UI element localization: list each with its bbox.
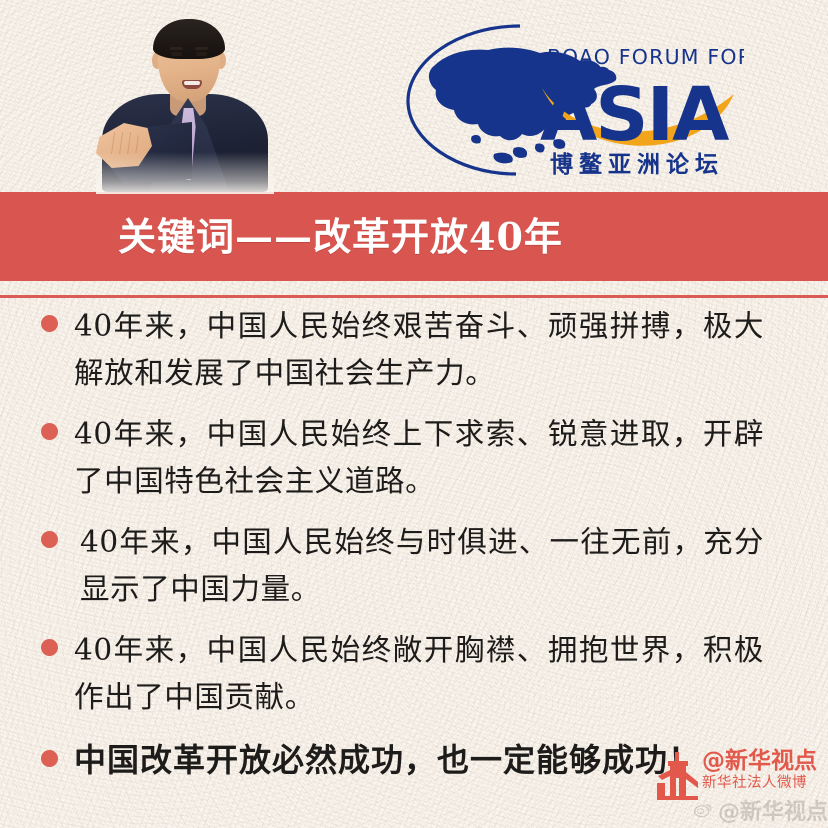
list-item-text: 40年来，中国人民始终敞开胸襟、拥抱世界，积极作出了中国贡献。 bbox=[74, 627, 764, 721]
watermark-subtitle: 新华社法人微博 bbox=[702, 774, 822, 792]
banner-divider-rule bbox=[0, 295, 828, 298]
watermark-text-block: @新华视点 新华社法人微博 bbox=[702, 748, 822, 792]
list-item: 40年来，中国人民始终上下求索、锐意进取，开辟了中国特色社会主义道路。 bbox=[0, 411, 828, 505]
portrait-eye-left bbox=[171, 52, 182, 56]
portrait-brow-right bbox=[195, 47, 208, 50]
list-item: 40年来，中国人民始终与时俱进、一往无前，充分显示了中国力量。 bbox=[0, 519, 828, 613]
weibo-eye-icon bbox=[694, 797, 712, 823]
bullet-dot-icon bbox=[41, 639, 58, 656]
list-item-text: 40年来，中国人民始终艰苦奋斗、顽强拼搏，极大解放和发展了中国社会生产力。 bbox=[74, 303, 764, 397]
portrait-eye-right bbox=[196, 52, 207, 56]
boao-forum-logo: BOAO FORUM FOR ASIA 博鳌亚洲论坛 bbox=[404, 16, 744, 182]
list-item: 40年来，中国人民始终敞开胸襟、拥抱世界，积极作出了中国贡献。 bbox=[0, 627, 828, 721]
logo-line1-text: BOAO FORUM FOR bbox=[547, 45, 744, 69]
title-banner: 关键词——改革开放40年 bbox=[0, 192, 828, 281]
poster-canvas: BOAO FORUM FOR ASIA 博鳌亚洲论坛 关键词——改革开放40年 … bbox=[0, 0, 828, 828]
weibo-watermark: @新华视点 bbox=[694, 795, 828, 825]
page-title: 关键词——改革开放40年 bbox=[118, 218, 563, 256]
portrait-mouth bbox=[182, 80, 202, 89]
watermark-handle: @新华视点 bbox=[702, 748, 822, 774]
list-item-text: 40年来，中国人民始终与时俱进、一往无前，充分显示了中国力量。 bbox=[74, 519, 764, 613]
portrait-hair bbox=[153, 19, 225, 59]
logo-chinese-text: 博鳌亚洲论坛 bbox=[550, 151, 724, 178]
header-region: BOAO FORUM FOR ASIA 博鳌亚洲论坛 bbox=[0, 0, 828, 192]
list-item: 40年来，中国人民始终艰苦奋斗、顽强拼搏，极大解放和发展了中国社会生产力。 bbox=[0, 303, 828, 397]
weibo-watermark-label: @新华视点 bbox=[718, 794, 828, 826]
logo-asia-text: ASIA bbox=[540, 72, 729, 158]
xinhua-logo-icon bbox=[656, 752, 700, 800]
bullet-dot-icon bbox=[41, 750, 58, 767]
portrait-bottom-fade bbox=[96, 152, 274, 194]
bullet-list: 40年来，中国人民始终艰苦奋斗、顽强拼搏，极大解放和发展了中国社会生产力。 40… bbox=[0, 303, 828, 733]
speaker-portrait-image bbox=[96, 2, 274, 192]
bullet-dot-icon bbox=[41, 531, 58, 548]
list-item-text: 40年来，中国人民始终上下求索、锐意进取，开辟了中国特色社会主义道路。 bbox=[74, 411, 764, 505]
bullet-dot-icon bbox=[41, 315, 58, 332]
portrait-brow-left bbox=[170, 47, 183, 50]
bullet-dot-icon bbox=[41, 423, 58, 440]
